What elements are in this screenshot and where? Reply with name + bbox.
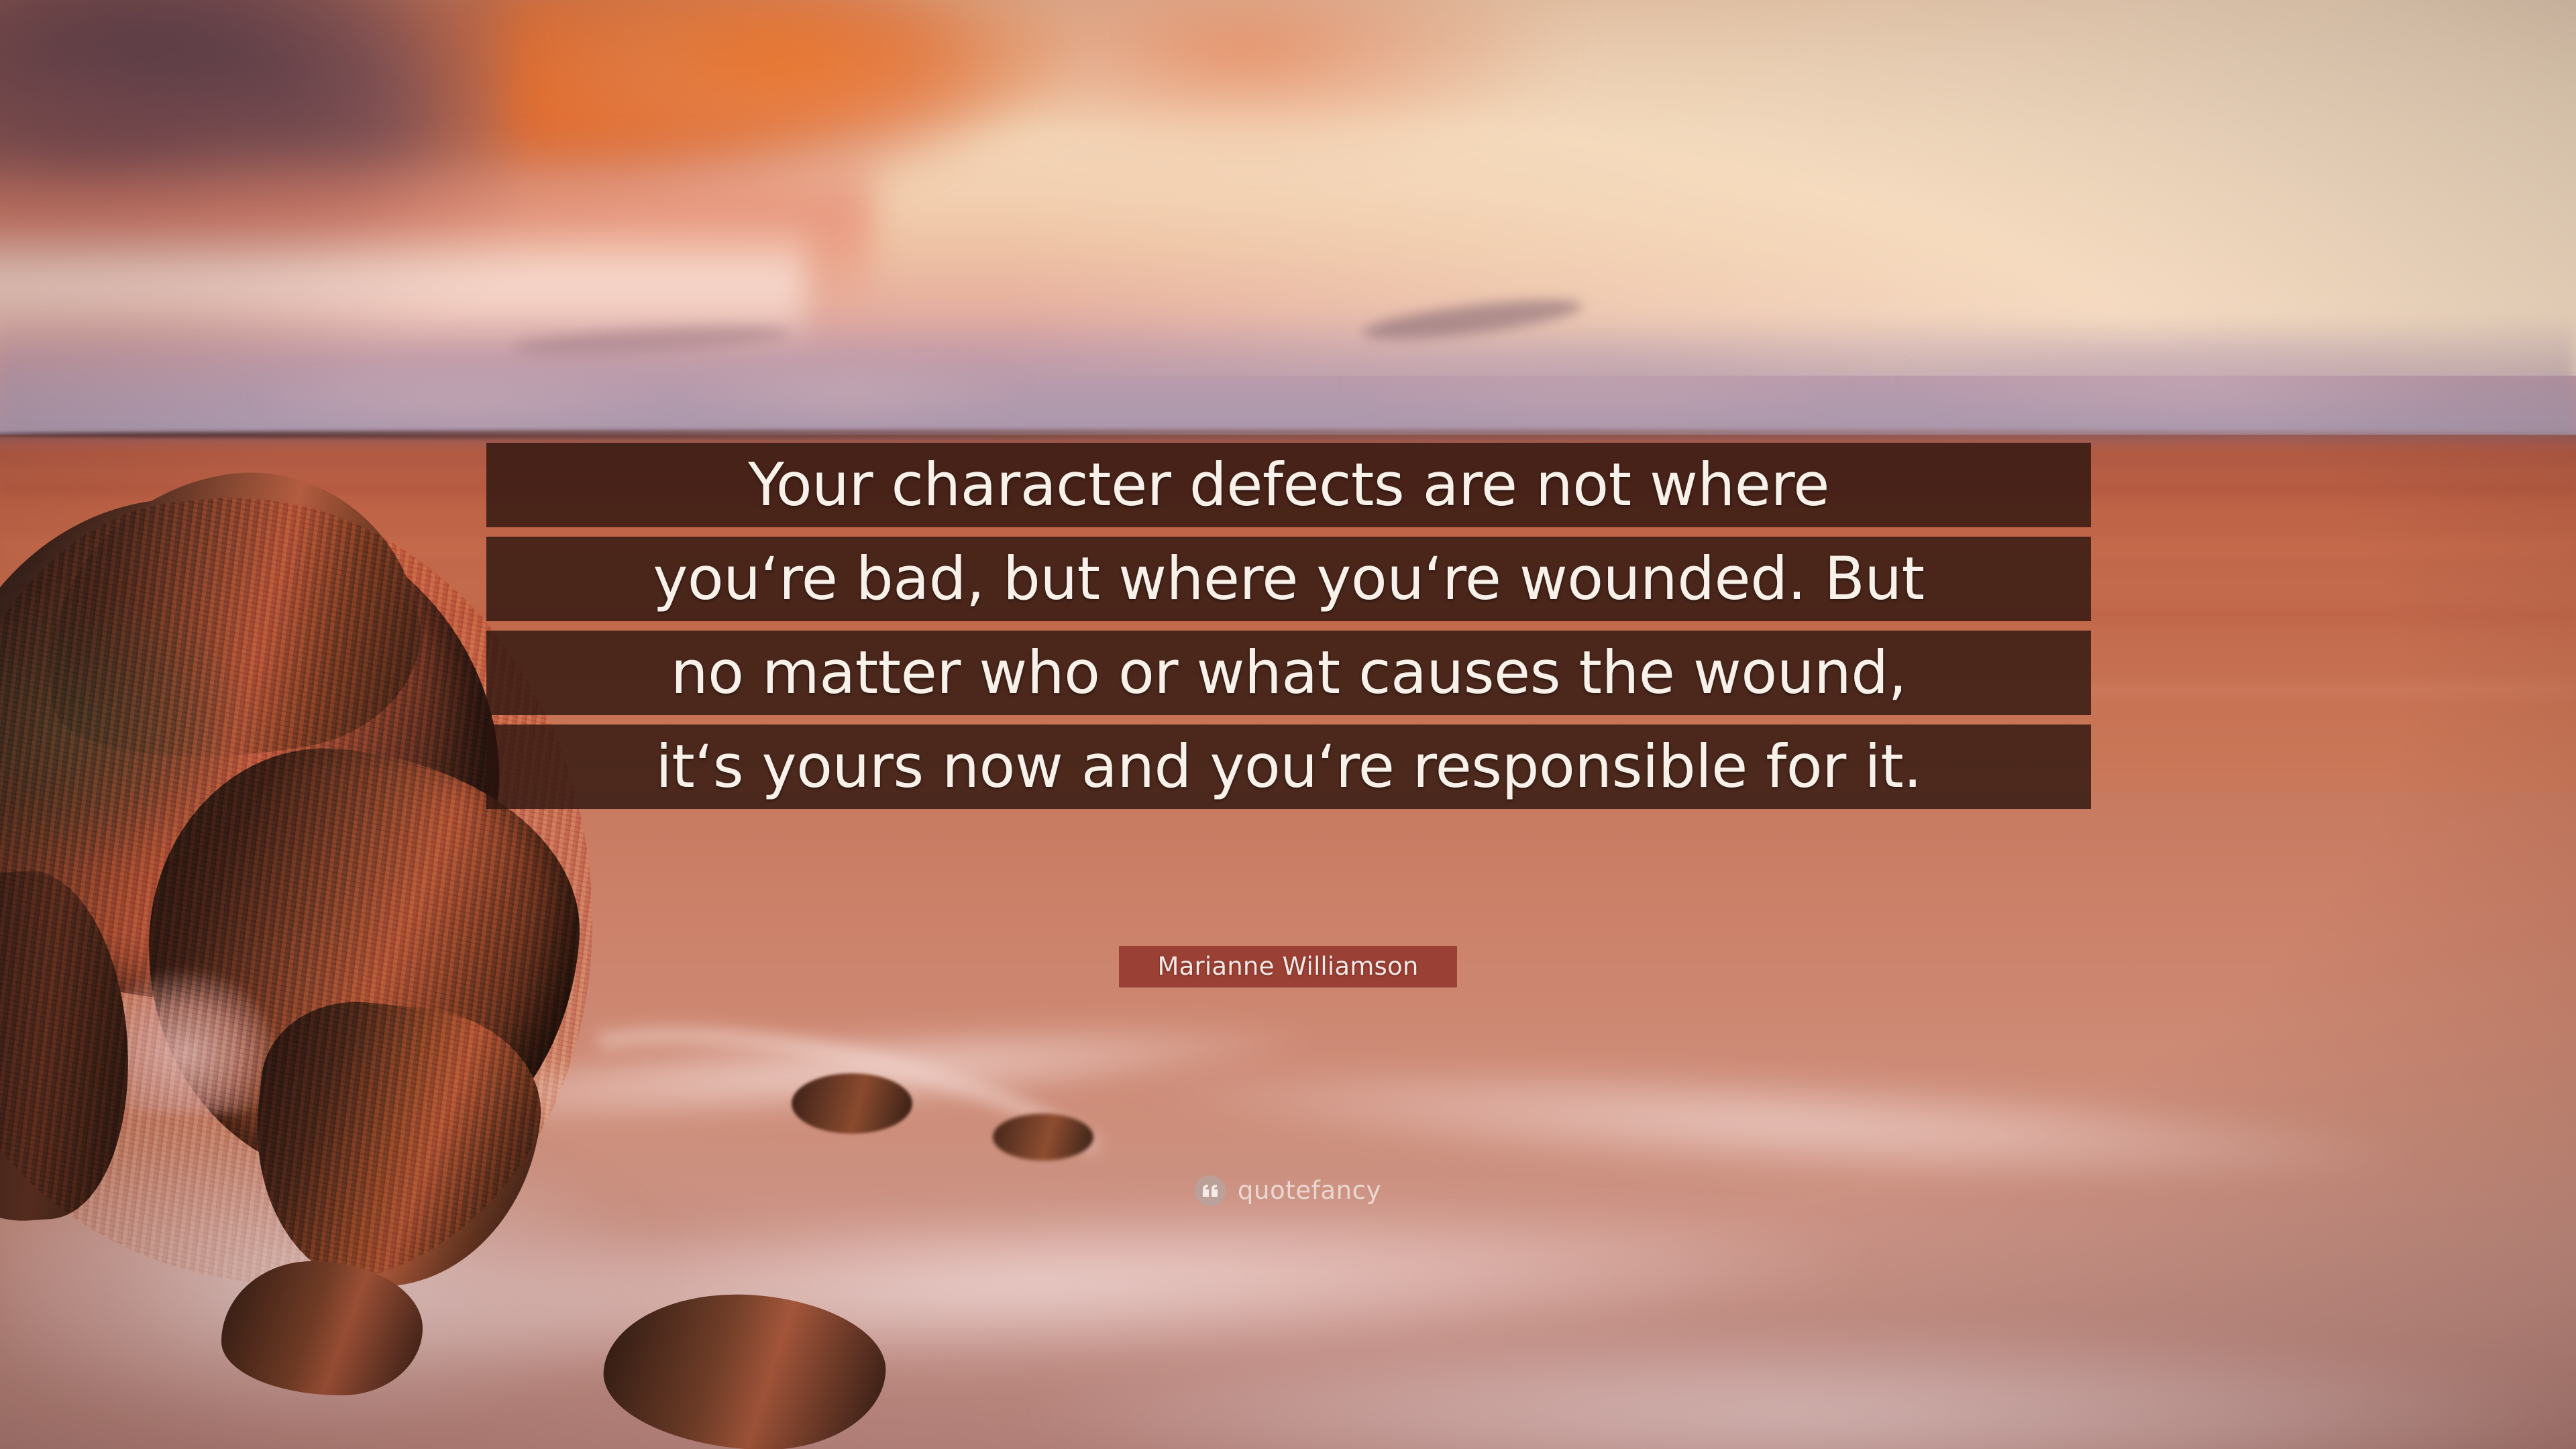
author-attribution-row: Marianne Williamson [0,946,2576,987]
quote-line: it‘s yours now and you‘re responsible fo… [486,724,2091,809]
horizon-line [0,429,2576,440]
quote-marks-icon [1195,1175,1226,1206]
distant-clouds [0,335,2576,436]
quotefancy-watermark[interactable]: quotefancy [0,1175,2576,1206]
quote-line: Your character defects are not where [486,443,2091,527]
author-name-badge: Marianne Williamson [1119,946,1458,987]
quote-line: you‘re bad, but where you‘re wounded. Bu… [486,537,2091,621]
quotefancy-brand-text: quotefancy [1238,1175,1381,1206]
wallpaper-canvas: Your character defects are not where you… [0,0,2576,1449]
rock-outcrop-3 [792,1073,912,1134]
rock-outcrop-4 [993,1114,1093,1161]
quote-text-block: Your character defects are not where you… [486,443,2091,809]
quote-line: no matter who or what causes the wound, [486,631,2091,715]
